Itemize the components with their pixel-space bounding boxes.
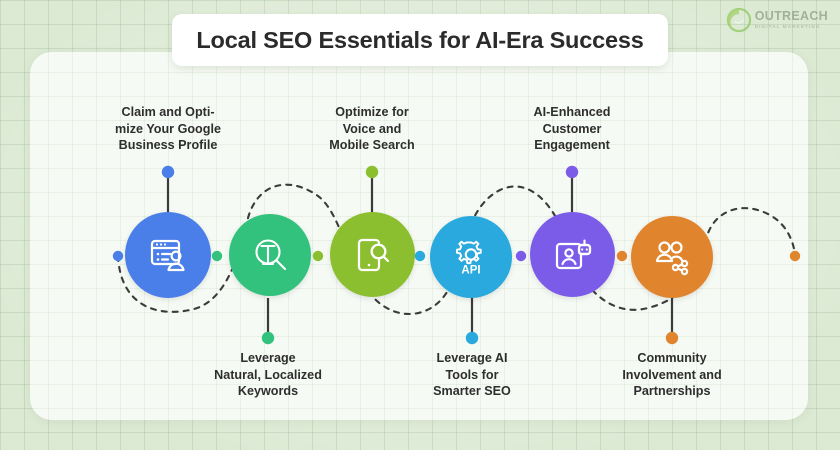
step-node-6[interactable] <box>631 216 713 298</box>
step-node-3[interactable] <box>330 212 415 297</box>
step-label-1: Claim and Opti- mize Your Google Busines… <box>96 104 240 154</box>
step-label-3: Optimize for Voice and Mobile Search <box>300 104 444 154</box>
step-label-2: Leverage Natural, Localized Keywords <box>196 350 340 400</box>
logo-tagline: DIGITAL MARKETING <box>755 25 828 30</box>
step-label-5: AI-Enhanced Customer Engagement <box>500 104 644 154</box>
infographic-canvas: API <box>0 0 840 450</box>
keyword-search-icon <box>248 233 292 277</box>
api-gear-icon: API <box>449 235 493 279</box>
logo-name: OUTREACH <box>755 10 828 23</box>
brand-logo[interactable]: OUTREACH DIGITAL MARKETING <box>726 7 828 33</box>
step-label-6: Community Involvement and Partnerships <box>600 350 744 400</box>
outreach-swirl-icon <box>726 7 752 33</box>
title-banner: Local SEO Essentials for AI-Era Success <box>172 14 668 66</box>
logo-wordmark: OUTREACH DIGITAL MARKETING <box>755 10 828 29</box>
customer-bot-icon <box>551 233 595 277</box>
step-node-2[interactable] <box>229 214 311 296</box>
svg-text:API: API <box>461 265 480 277</box>
step-node-4[interactable]: API <box>430 216 512 298</box>
step-node-5[interactable] <box>530 212 615 297</box>
browser-profile-icon <box>146 233 190 277</box>
page-title: Local SEO Essentials for AI-Era Success <box>196 27 643 54</box>
step-node-1[interactable] <box>125 212 211 298</box>
step-label-4: Leverage AI Tools for Smarter SEO <box>400 350 544 400</box>
community-share-icon <box>650 235 694 279</box>
mobile-search-icon <box>351 233 395 277</box>
